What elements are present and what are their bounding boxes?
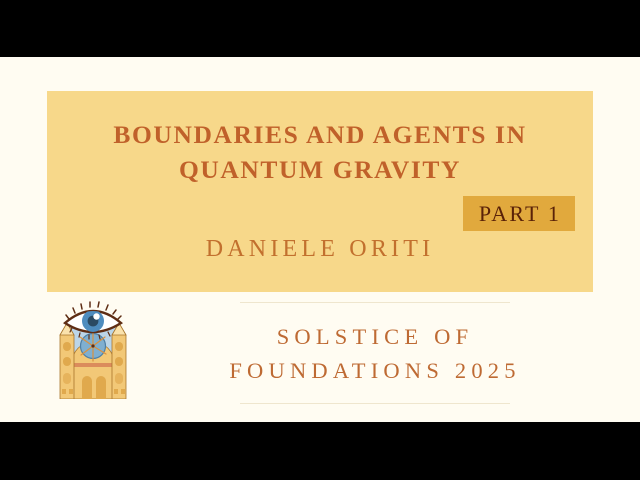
event-block: SOLSTICE OF FOUNDATIONS 2025 (195, 302, 555, 404)
event-line-2: FOUNDATIONS 2025 (195, 354, 555, 388)
title-line-1: BOUNDARIES AND AGENTS IN (47, 117, 593, 152)
divider-bottom (240, 403, 510, 404)
author-name: DANIELE ORITI (47, 233, 593, 265)
page-title: BOUNDARIES AND AGENTS IN QUANTUM GRAVITY (47, 117, 593, 187)
right-tower (112, 323, 126, 399)
title-panel: BOUNDARIES AND AGENTS IN QUANTUM GRAVITY… (47, 91, 593, 292)
part-badge-label: PART 1 (477, 203, 561, 225)
event-line-1: SOLSTICE OF (195, 320, 555, 354)
left-tower (60, 323, 74, 399)
divider-top (240, 302, 510, 303)
slide-canvas: BOUNDARIES AND AGENTS IN QUANTUM GRAVITY… (0, 57, 640, 422)
part-badge: PART 1 (463, 196, 575, 231)
slide-stage: BOUNDARIES AND AGENTS IN QUANTUM GRAVITY… (0, 0, 640, 480)
letterbox-top (0, 0, 640, 57)
cathedral-eye-clock-logo (56, 301, 130, 399)
letterbox-bottom (0, 422, 640, 480)
title-line-2: QUANTUM GRAVITY (47, 152, 593, 187)
